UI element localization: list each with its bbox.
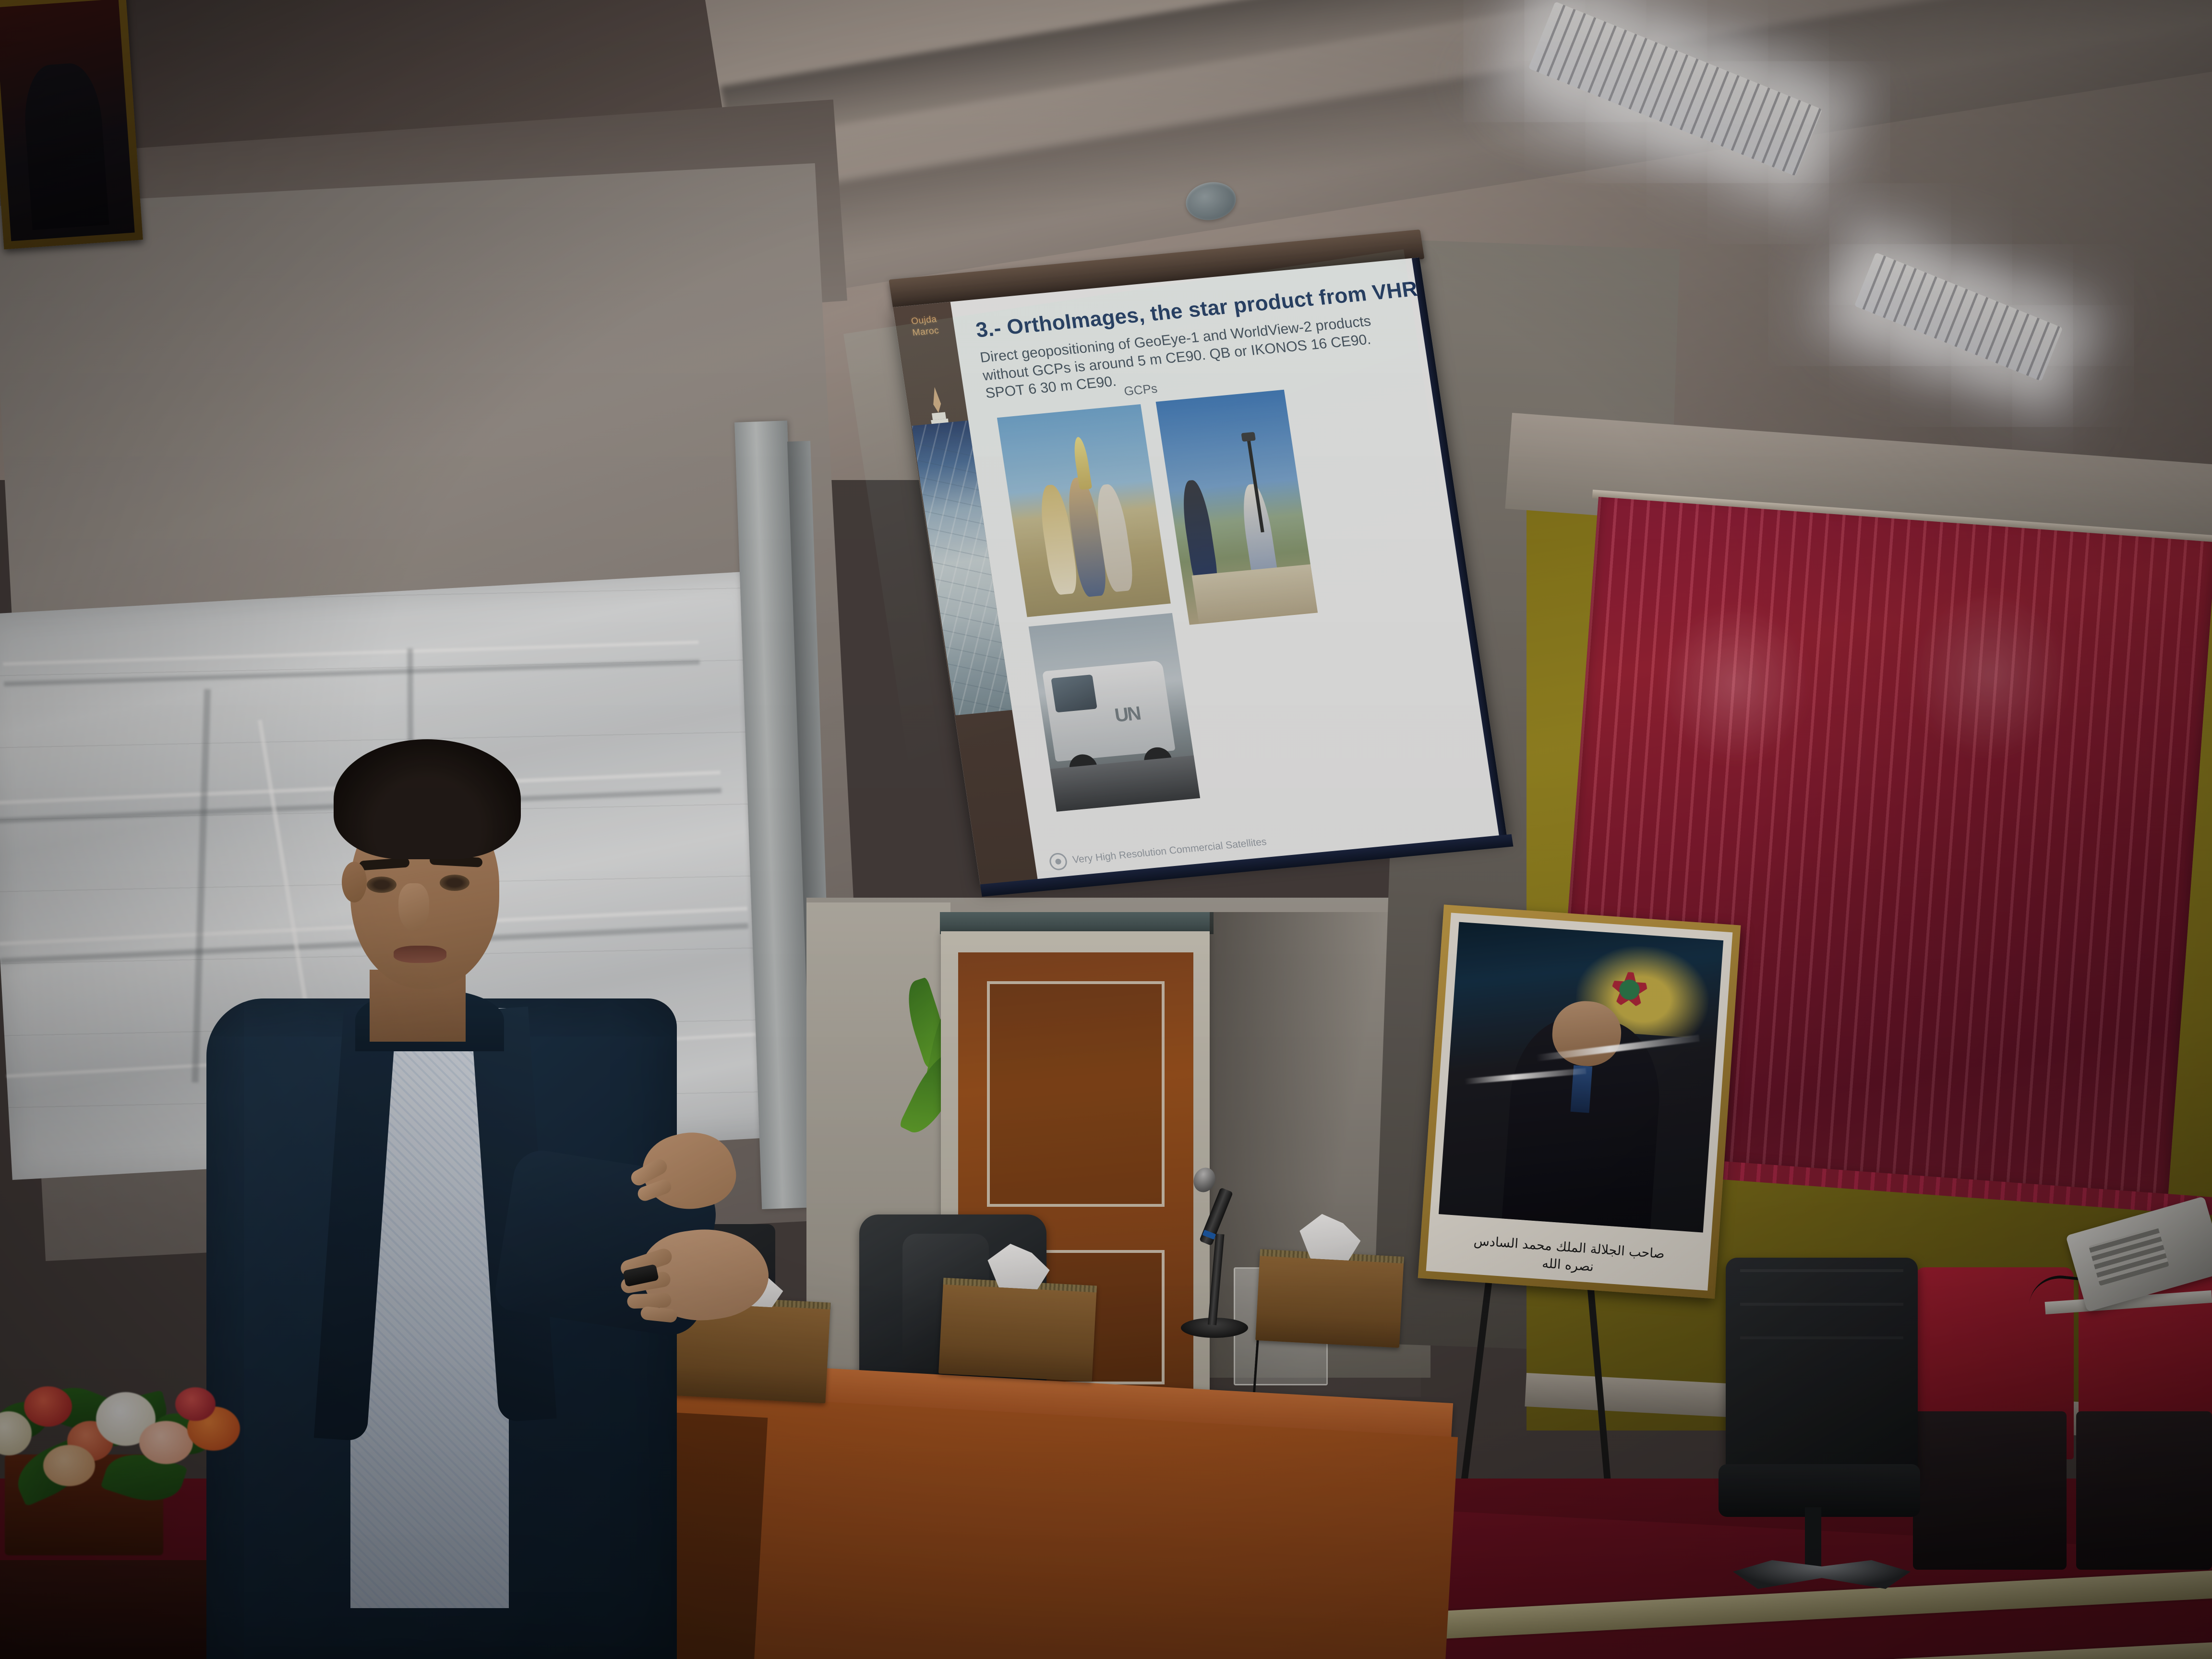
office-chair-backrest[interactable]	[1726, 1258, 1918, 1483]
presenter	[206, 739, 830, 1659]
king-portrait-caption: صاحب الجلالة الملك محمد السادس نصره الله	[1427, 1229, 1711, 1284]
wall-portrait-photo	[0, 0, 135, 241]
presenter-nose	[398, 883, 429, 931]
auditorium-seat-cushion	[1913, 1411, 2067, 1570]
wall-portrait-figure	[21, 61, 109, 230]
presenter-ear	[342, 862, 367, 902]
presenter-hair	[334, 739, 521, 859]
projection-screen: Oujda Maroc Université Mohammed Pre	[893, 257, 1510, 905]
flower-arrangement	[0, 1334, 254, 1536]
window-glow	[1655, 600, 1815, 769]
satellite-image-strip	[912, 421, 1012, 715]
lecture-hall-photo: Oujda Maroc Université Mohammed Pre	[0, 0, 2212, 1659]
projector-vent-icon	[2089, 1226, 2169, 1286]
office-chair-post	[1805, 1507, 1821, 1570]
tissue-box[interactable]	[1255, 1249, 1404, 1347]
wall-portrait	[0, 0, 143, 249]
presenter-mouth	[394, 946, 446, 963]
portrait-mat: صاحب الجلالة الملك محمد السادس نصره الله	[1426, 913, 1733, 1290]
gps-survey-photo	[1156, 390, 1318, 625]
field-team-photo	[997, 404, 1171, 617]
window-glow	[1905, 585, 2075, 764]
tissue-box[interactable]	[938, 1278, 1097, 1382]
auditorium-seat-cushion	[2076, 1411, 2212, 1570]
un-vehicle-photo: UN	[1029, 613, 1200, 812]
king-portrait-frame: صاحب الجلالة الملك محمد السادس نصره الله	[1418, 904, 1741, 1298]
slide-sidebar-top-text: Oujda Maroc	[900, 313, 950, 340]
slide-caption: GCPs	[1123, 381, 1158, 399]
screen-surface: Oujda Maroc Université Mohammed Pre	[893, 257, 1507, 886]
king-portrait-photo	[1439, 922, 1723, 1233]
slide-body: 3.- OrthoImages, the star product from V…	[950, 257, 1507, 881]
footer-logo-icon	[1048, 852, 1068, 871]
